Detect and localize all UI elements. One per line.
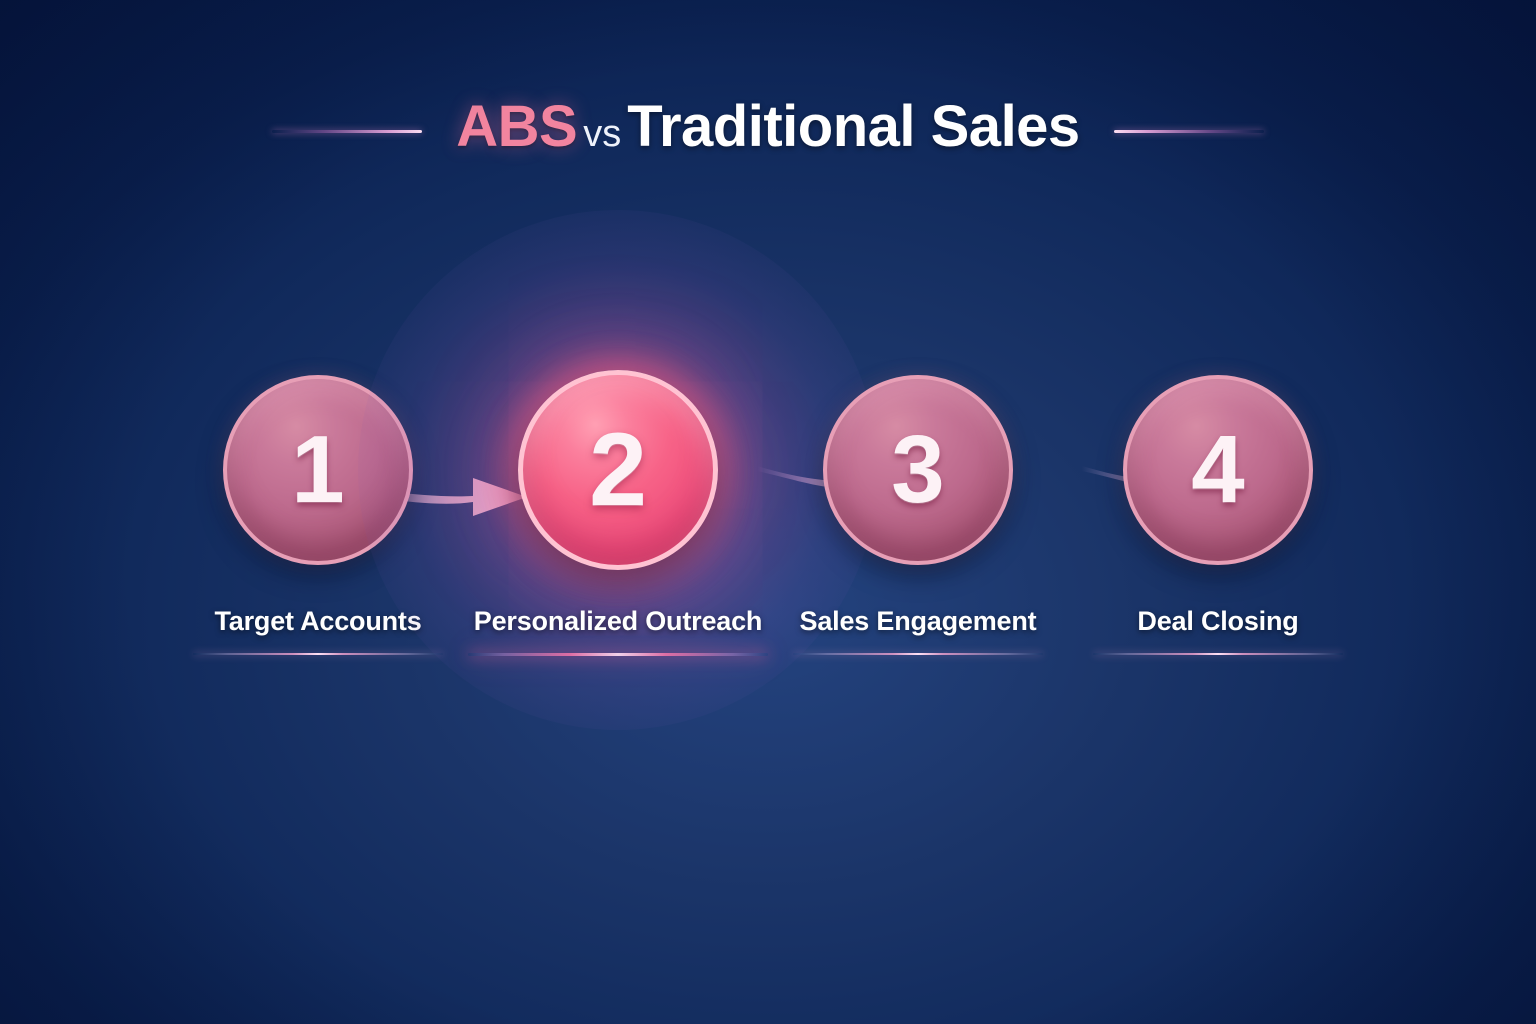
step-item-4[interactable]: 4 Deal Closing	[1068, 370, 1368, 655]
step-circle-wrap-1: 1	[218, 370, 418, 570]
step-circle-4[interactable]: 4	[1123, 375, 1313, 565]
step-circle-wrap-3: 3	[818, 370, 1018, 570]
title-connector: vs	[577, 113, 627, 155]
step-circle-wrap-4: 4	[1118, 370, 1318, 570]
step-label-2: Personalized Outreach	[474, 606, 762, 637]
infographic-canvas: ABSvsTraditional Sales	[0, 0, 1536, 1024]
step-underline-4	[1093, 653, 1343, 655]
title-highlight: ABS	[456, 94, 577, 159]
step-number-2: 2	[589, 418, 647, 522]
step-underline-2	[468, 653, 768, 656]
step-number-3: 3	[891, 422, 944, 518]
title-rule-right-icon	[1114, 130, 1264, 133]
step-item-2[interactable]: 2 Personalized Outreach	[468, 370, 768, 656]
step-label-3: Sales Engagement	[800, 606, 1037, 637]
step-circle-2[interactable]: 2	[518, 370, 718, 570]
step-item-1[interactable]: 1 Target Accounts	[168, 370, 468, 655]
page-title: ABSvsTraditional Sales	[456, 98, 1079, 156]
step-list: 1 Target Accounts 2 Personalized Outreac…	[0, 370, 1536, 656]
step-number-4: 4	[1191, 422, 1244, 518]
step-circle-1[interactable]: 1	[223, 375, 413, 565]
step-item-3[interactable]: 3 Sales Engagement	[768, 370, 1068, 655]
step-underline-1	[193, 653, 443, 655]
title-row: ABSvsTraditional Sales	[0, 98, 1536, 156]
step-number-1: 1	[291, 422, 344, 518]
step-label-1: Target Accounts	[214, 606, 421, 637]
title-rest: Traditional Sales	[627, 94, 1079, 159]
step-circle-3[interactable]: 3	[823, 375, 1013, 565]
step-label-4: Deal Closing	[1137, 606, 1298, 637]
step-underline-3	[793, 653, 1043, 655]
step-circle-wrap-2: 2	[518, 370, 718, 570]
title-rule-left-icon	[272, 130, 422, 133]
